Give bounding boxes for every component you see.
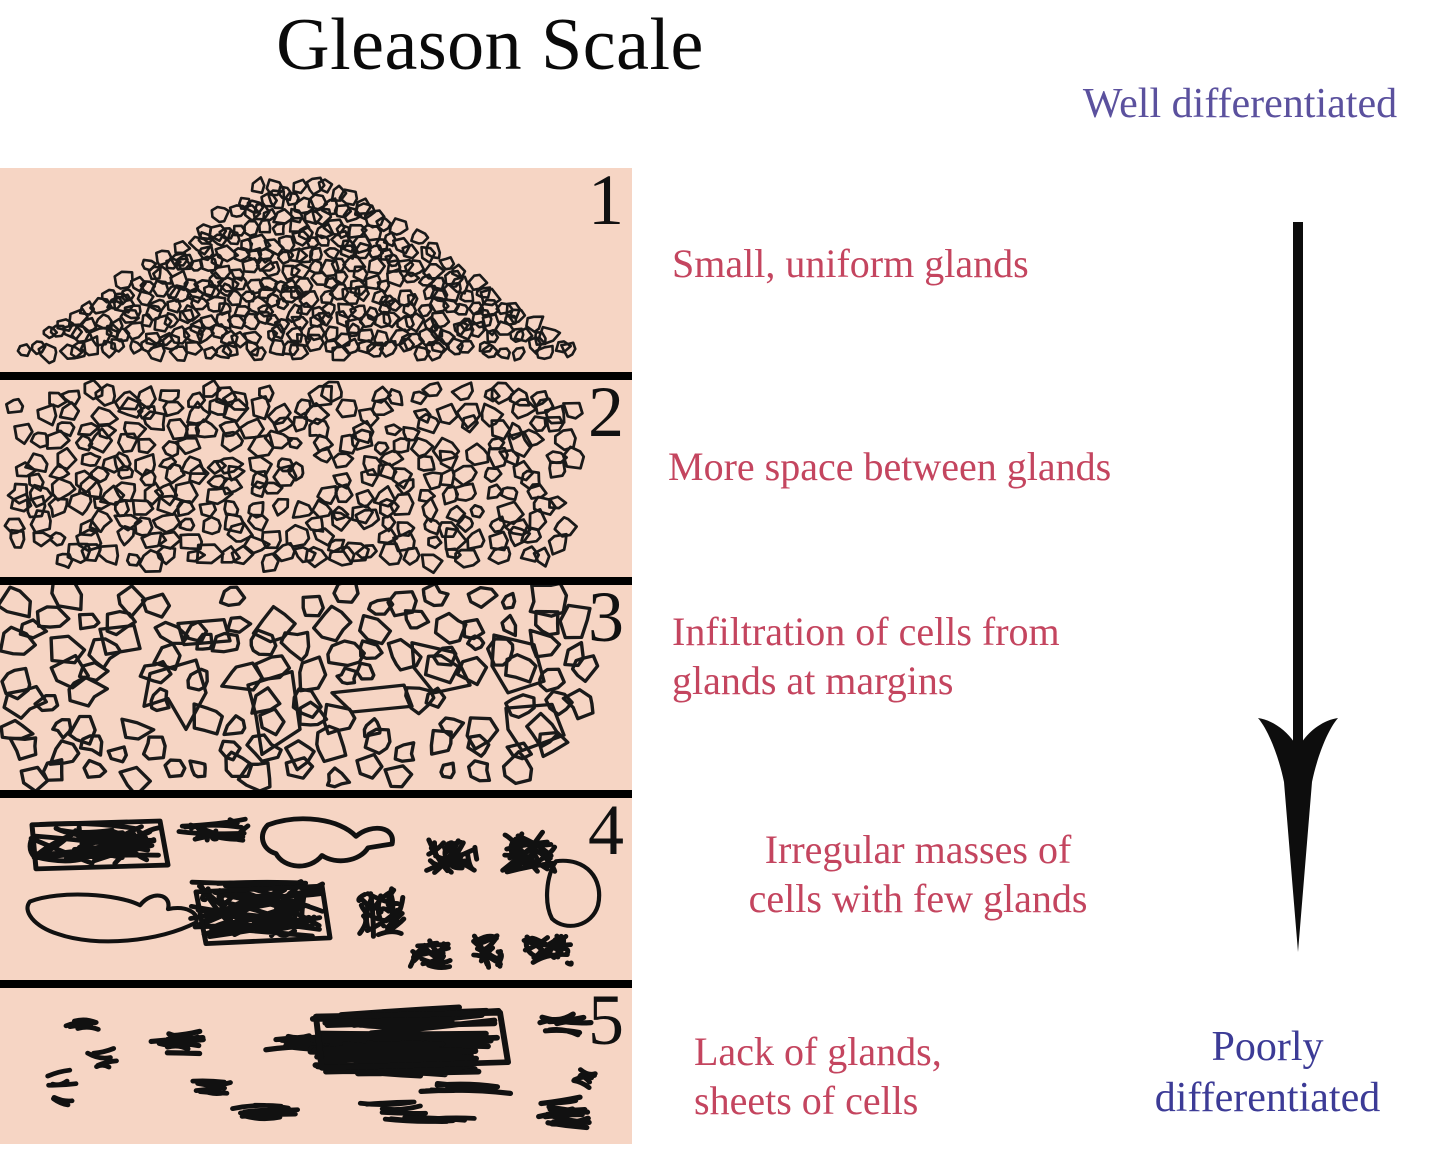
gleason-description-5-line-1: Lack of glands, xyxy=(694,1028,1054,1077)
gleason-description-3: Infiltration of cells from glands at mar… xyxy=(672,608,1192,706)
gleason-panel-1: 1 xyxy=(0,168,632,372)
gleason-description-4-line-2: cells with few glands xyxy=(678,875,1158,924)
gleason-pattern-5-illustration xyxy=(0,988,632,1144)
poorly-differentiated-line-1: Poorly xyxy=(1095,1022,1440,1073)
gleason-grade-number-2: 2 xyxy=(588,376,624,448)
gleason-panel-5: 5 xyxy=(0,980,632,1144)
gleason-description-4-line-1: Irregular masses of xyxy=(678,826,1158,875)
gleason-description-2-line-1: More space between glands xyxy=(668,443,1228,492)
gleason-panel-4: 4 xyxy=(0,790,632,980)
gleason-pattern-panels: 1 2 3 4 5 xyxy=(0,168,632,1152)
gleason-grade-number-3: 3 xyxy=(588,581,624,653)
well-differentiated-label: Well differentiated xyxy=(1040,82,1440,126)
gleason-grade-number-4: 4 xyxy=(588,794,624,866)
gleason-panel-3: 3 xyxy=(0,577,632,790)
gleason-pattern-1-illustration xyxy=(0,168,632,372)
gleason-description-1-line-1: Small, uniform glands xyxy=(672,240,1192,289)
gleason-description-4: Irregular masses of cells with few gland… xyxy=(678,826,1158,924)
poorly-differentiated-line-2: differentiated xyxy=(1095,1073,1440,1124)
gleason-pattern-4-illustration xyxy=(0,798,632,980)
poorly-differentiated-label: Poorly differentiated xyxy=(1095,1022,1440,1124)
gleason-panel-2: 2 xyxy=(0,372,632,577)
page-title: Gleason Scale xyxy=(0,8,980,82)
gleason-pattern-2-illustration xyxy=(0,380,632,577)
gleason-grade-number-5: 5 xyxy=(588,984,624,1056)
gleason-pattern-3-illustration xyxy=(0,585,632,790)
gleason-grade-number-1: 1 xyxy=(588,168,624,236)
gleason-description-3-line-1: Infiltration of cells from xyxy=(672,608,1192,657)
gleason-description-5-line-2: sheets of cells xyxy=(694,1077,1054,1126)
differentiation-arrow-icon xyxy=(1246,222,1350,952)
gleason-description-3-line-2: glands at margins xyxy=(672,657,1192,706)
gleason-description-2: More space between glands xyxy=(668,443,1228,492)
gleason-description-5: Lack of glands, sheets of cells xyxy=(694,1028,1054,1126)
gleason-description-1: Small, uniform glands xyxy=(672,240,1192,289)
